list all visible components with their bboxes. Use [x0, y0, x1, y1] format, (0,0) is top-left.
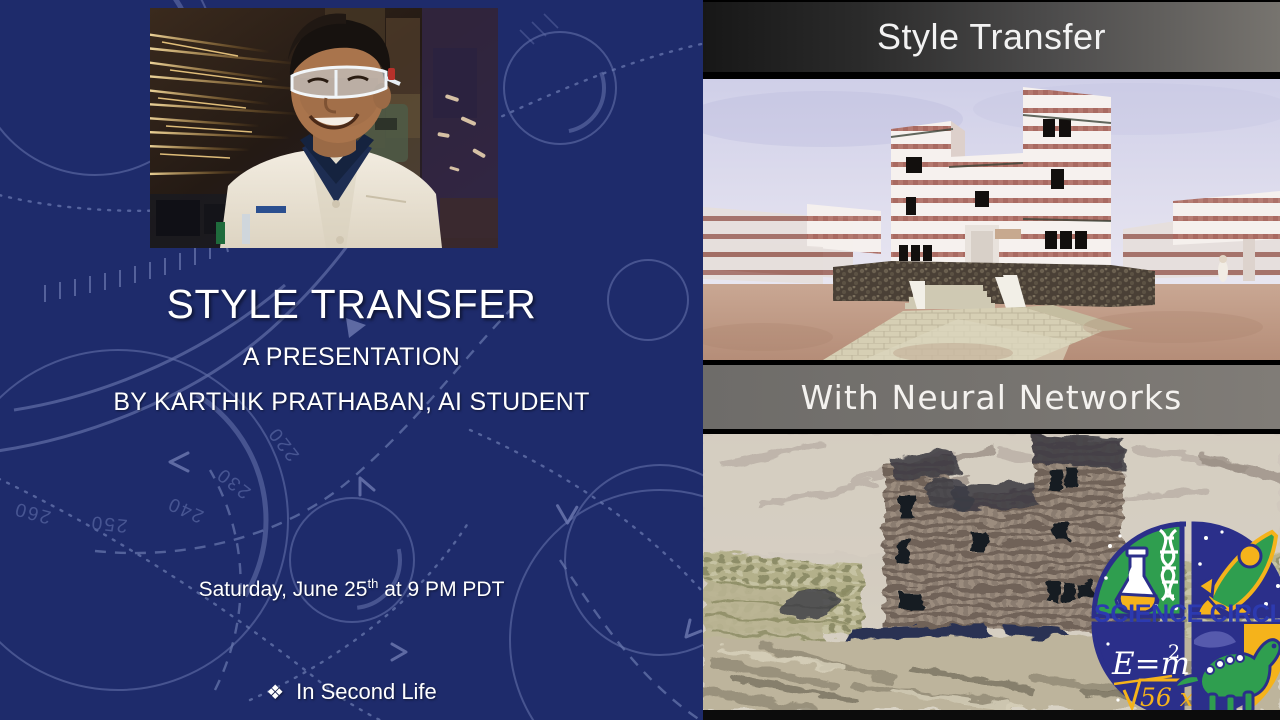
- diamond-bullet-icon: ❖: [266, 682, 284, 704]
- banner-top-label: Style Transfer: [877, 16, 1106, 58]
- date-ordinal: th: [368, 576, 379, 591]
- presentation-slide: 260 250 240 230 220: [0, 0, 1280, 720]
- presenter-photo-illustration: [150, 8, 498, 248]
- deco-number-220: 220: [264, 422, 304, 465]
- stylized-render: E=mc 2 56 x: [703, 434, 1280, 710]
- science-circle-logo-text-layer: SCIENCE CIRCLE: [1094, 524, 1280, 709]
- banner-mid-label: With Neural Networks: [801, 378, 1183, 417]
- byline: BY KARTHIK PRATHABAN, AI STUDENT: [0, 388, 703, 417]
- right-media-panel: Style Transfer: [703, 0, 1280, 720]
- subtitle: A PRESENTATION: [0, 343, 703, 372]
- date-prefix: Saturday, June 25: [199, 578, 368, 601]
- source-render-illustration: [703, 79, 1280, 360]
- banner-style-transfer: Style Transfer: [703, 2, 1280, 72]
- presenter-photo: [150, 8, 498, 248]
- deco-number-250: 250: [89, 511, 129, 536]
- date-suffix: at 9 PM PDT: [378, 578, 504, 601]
- bottom-black-strip: [703, 710, 1280, 720]
- banner-with-neural-networks: With Neural Networks: [703, 365, 1280, 429]
- left-title-panel: 260 250 240 230 220: [0, 0, 703, 720]
- logo-wordmark: SCIENCE CIRCLE: [1094, 600, 1280, 629]
- event-date: Saturday, June 25th at 9 PM PDT: [0, 576, 703, 602]
- page-title: STYLE TRANSFER: [0, 281, 703, 328]
- venue-label: In Second Life: [296, 679, 437, 704]
- deco-number-260: 260: [11, 497, 53, 527]
- deco-number-240: 240: [164, 492, 207, 527]
- venue-footer: ❖In Second Life: [0, 679, 703, 705]
- deco-number-230: 230: [212, 463, 255, 503]
- source-render: [703, 79, 1280, 360]
